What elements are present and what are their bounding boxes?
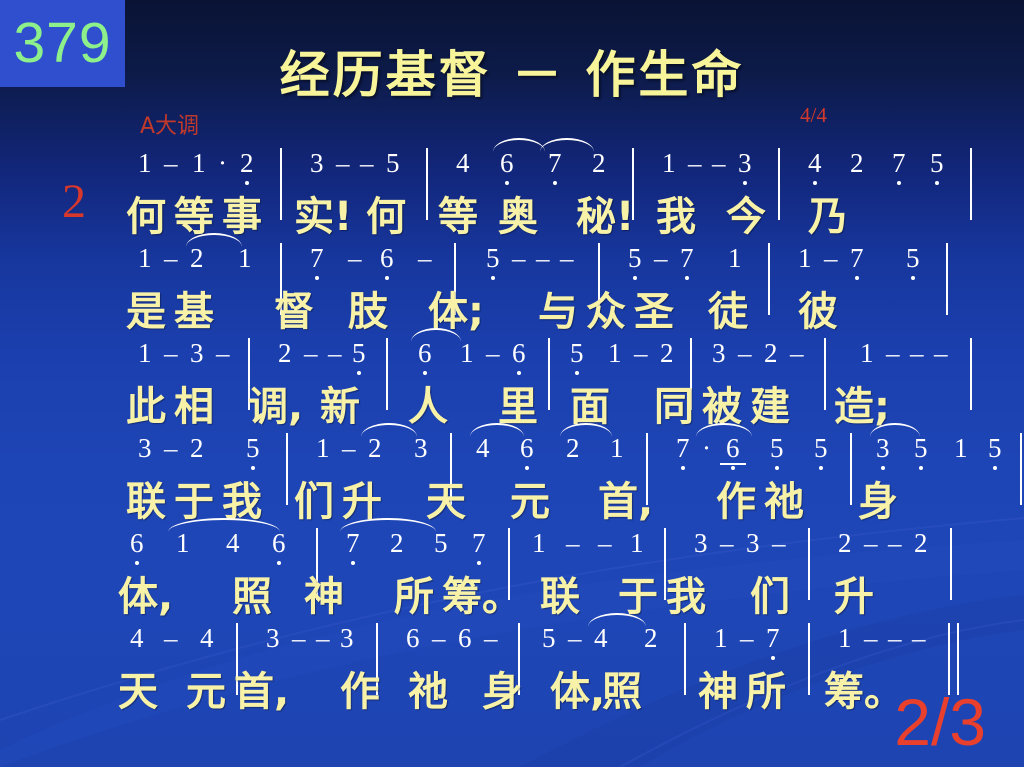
- lyric-row: 体,照神所筹。联于我们升: [108, 564, 908, 615]
- note: –: [164, 243, 178, 274]
- barline: [970, 148, 972, 220]
- lyric-syllable: 今: [726, 184, 766, 242]
- note: –: [864, 528, 878, 559]
- note: 7: [548, 148, 562, 179]
- barline: [950, 528, 952, 600]
- lyric-syllable: 与: [538, 279, 578, 337]
- note: 2: [764, 338, 778, 369]
- note: 7: [676, 433, 690, 464]
- note: –: [348, 243, 362, 274]
- lyric-syllable: 实!: [294, 184, 352, 242]
- note: 5: [246, 433, 260, 464]
- note: 4: [456, 148, 470, 179]
- note: –: [912, 623, 926, 654]
- note: –: [886, 338, 900, 369]
- barline: [970, 338, 972, 410]
- note: 5: [386, 148, 400, 179]
- note: 3: [190, 338, 204, 369]
- lyric-syllable: 联: [126, 469, 166, 527]
- staff-line: 614672571––13–3–2––2体,照神所筹。联于我们升: [108, 520, 908, 615]
- lyric-syllable: 督: [274, 279, 314, 337]
- note: 2: [914, 528, 928, 559]
- note: –: [304, 338, 318, 369]
- slur-arc: [560, 423, 612, 437]
- note: –: [910, 338, 924, 369]
- lyric-syllable: 筹。: [824, 659, 904, 717]
- note: 2: [838, 528, 852, 559]
- staff-line: 3–251–2346217·6553515联于我们升天元首,作祂身: [108, 425, 908, 520]
- note: –: [824, 243, 838, 274]
- note: –: [598, 528, 612, 559]
- note: 1: [176, 528, 190, 559]
- note: –: [164, 433, 178, 464]
- note: 5: [570, 338, 584, 369]
- note: –: [216, 338, 230, 369]
- lyric-syllable: 等: [438, 184, 478, 242]
- lyric-syllable: 元: [510, 469, 550, 527]
- lyric-row: 何等事实!何等奥秘!我今乃: [108, 184, 908, 235]
- note: 6: [380, 243, 394, 274]
- note: 7: [346, 528, 360, 559]
- note: 1: [610, 433, 624, 464]
- note-row: 1–217–6–5–––5–711–75: [108, 235, 908, 279]
- note: 5: [628, 243, 642, 274]
- note-row: 614672571––13–3–2––2: [108, 520, 908, 564]
- note: 3: [138, 433, 152, 464]
- lyric-syllable: 照: [232, 564, 272, 622]
- note: 5: [352, 338, 366, 369]
- note: 7: [850, 243, 864, 274]
- lyric-syllable: 所: [746, 659, 786, 717]
- note: 2: [368, 433, 382, 464]
- slur-arc: [186, 233, 242, 247]
- note: 1: [838, 623, 852, 654]
- lyric-syllable: 作: [340, 659, 380, 717]
- lyric-syllable: 首,: [598, 469, 653, 527]
- slur-arc: [870, 423, 920, 437]
- note: –: [560, 243, 574, 274]
- lyric-syllable: 此: [126, 374, 166, 432]
- music-staff: 1–1·23––546721––34275何等事实!何等奥秘!我今乃1–217–…: [108, 140, 908, 710]
- lyric-syllable: 建: [750, 374, 790, 432]
- note: 2: [190, 433, 204, 464]
- note: 5: [770, 433, 784, 464]
- slur-arc: [540, 138, 594, 152]
- slur-arc: [493, 138, 545, 152]
- slur-arc: [411, 328, 461, 342]
- note: –: [720, 528, 734, 559]
- note: 6: [512, 338, 526, 369]
- note: –: [432, 623, 446, 654]
- lyric-syllable: 祂: [408, 659, 448, 717]
- note: 2: [390, 528, 404, 559]
- lyric-syllable: 徒: [708, 279, 748, 337]
- lyric-syllable: 相: [174, 374, 214, 432]
- note: 1: [662, 148, 676, 179]
- note: 4: [476, 433, 490, 464]
- lyric-syllable: 乃: [808, 184, 848, 242]
- lyric-syllable: 升: [834, 564, 874, 622]
- lyric-syllable: 新: [320, 374, 360, 432]
- hymn-slide: 379 经历基督 － 作生命 A大调 4/4 2 1–1·23––546721–…: [0, 0, 1024, 767]
- note: 1: [728, 243, 742, 274]
- staff-line: 1–217–6–5–––5–711–75是基督肢体;与众圣徒彼: [108, 235, 908, 330]
- note: 6: [272, 528, 286, 559]
- note: –: [934, 338, 948, 369]
- note: –: [864, 623, 878, 654]
- note: 5: [906, 243, 920, 274]
- lyric-syllable: 体,: [550, 659, 605, 717]
- lyric-syllable: 造;: [834, 374, 890, 432]
- lyric-syllable: 我: [656, 184, 696, 242]
- note: 3: [746, 528, 760, 559]
- staff-line: 1–1·23––546721––34275何等事实!何等奥秘!我今乃: [108, 140, 908, 235]
- lyric-syllable: 们: [294, 469, 334, 527]
- lyric-syllable: 天: [118, 659, 158, 717]
- note: 1: [238, 243, 252, 274]
- note: –: [634, 338, 648, 369]
- note: –: [316, 623, 330, 654]
- lyric-row: 此相调,新人里面同被建造;: [108, 374, 908, 425]
- lyric-syllable: 筹。: [442, 564, 522, 622]
- lyric-row: 联于我们升天元首,作祂身: [108, 469, 908, 520]
- note-row: 1–1·23––546721––34275: [108, 140, 908, 184]
- lyric-syllable: 何: [126, 184, 166, 242]
- note: –: [292, 623, 306, 654]
- note: 2: [660, 338, 674, 369]
- note: –: [654, 243, 668, 274]
- lyric-syllable: 体,: [118, 564, 173, 622]
- note: 2: [644, 623, 658, 654]
- note: 7: [680, 243, 694, 274]
- note: –: [888, 623, 902, 654]
- note: 5: [914, 433, 928, 464]
- lyric-syllable: 何: [366, 184, 406, 242]
- lyric-syllable: 调,: [248, 374, 303, 432]
- note: 2: [566, 433, 580, 464]
- note: 1: [860, 338, 874, 369]
- note: 6: [418, 338, 432, 369]
- note: 5: [486, 243, 500, 274]
- page-title: 经历基督 － 作生命: [0, 35, 1024, 107]
- barline: [946, 243, 948, 315]
- note: 3: [266, 623, 280, 654]
- note: 7: [766, 623, 780, 654]
- note: 3: [694, 528, 708, 559]
- note: 5: [930, 148, 944, 179]
- lyric-syllable: 我: [666, 564, 706, 622]
- note: –: [360, 148, 374, 179]
- note: –: [484, 623, 498, 654]
- note: 2: [278, 338, 292, 369]
- note: 6: [520, 433, 534, 464]
- note: –: [486, 338, 500, 369]
- note: 1: [608, 338, 622, 369]
- note: –: [712, 148, 726, 179]
- note: 3: [414, 433, 428, 464]
- note-row: 1–3–2––561–651–23–2–1–––: [108, 330, 908, 374]
- slur-arc: [696, 423, 752, 437]
- barline: [1020, 433, 1022, 505]
- staff-line: 1–3–2––561–651–23–2–1–––此相调,新人里面同被建造;: [108, 330, 908, 425]
- note: 1: [714, 623, 728, 654]
- note: 7: [310, 243, 324, 274]
- lyric-syllable: 作: [716, 469, 756, 527]
- lyric-syllable: 照: [602, 659, 642, 717]
- note: 1: [630, 528, 644, 559]
- lyric-syllable: 身: [482, 659, 522, 717]
- note: –: [738, 338, 752, 369]
- note: 4: [226, 528, 240, 559]
- note: 6: [500, 148, 514, 179]
- note: 6: [458, 623, 472, 654]
- lyric-syllable: 天: [426, 469, 466, 527]
- note: –: [740, 623, 754, 654]
- note: 6: [130, 528, 144, 559]
- note: ·: [218, 148, 227, 179]
- lyric-syllable: 同: [654, 374, 694, 432]
- note: 4: [808, 148, 822, 179]
- note: –: [568, 623, 582, 654]
- note: –: [164, 338, 178, 369]
- note: 5: [988, 433, 1002, 464]
- note: –: [512, 243, 526, 274]
- staff-line: 4–43––36–6–5–421–71–––天元首,作祂身体,照神所筹。: [108, 615, 908, 710]
- note: 1: [954, 433, 968, 464]
- lyric-syllable: 圣: [634, 279, 674, 337]
- key-signature: A大调: [140, 108, 199, 140]
- note: 6: [726, 433, 740, 464]
- note-row: 3–251–2346217·6553515: [108, 425, 908, 469]
- note: 4: [130, 623, 144, 654]
- note: 1: [138, 148, 152, 179]
- note: –: [328, 338, 342, 369]
- slur-arc: [361, 423, 417, 437]
- lyric-syllable: 彼: [798, 279, 838, 337]
- lyric-syllable: 奥: [498, 184, 538, 242]
- note: 2: [240, 148, 254, 179]
- note: 1: [192, 148, 206, 179]
- lyric-syllable: 肢: [348, 279, 388, 337]
- lyric-syllable: 神: [698, 659, 738, 717]
- note: –: [536, 243, 550, 274]
- note: 3: [340, 623, 354, 654]
- note: 4: [594, 623, 608, 654]
- lyric-syllable: 所: [394, 564, 434, 622]
- lyric-syllable: 人: [408, 374, 448, 432]
- note: 1: [460, 338, 474, 369]
- lyric-syllable: 是: [126, 279, 166, 337]
- note: 3: [712, 338, 726, 369]
- note: 7: [892, 148, 906, 179]
- note-row: 4–43––36–6–5–421–71–––: [108, 615, 908, 659]
- note: 1: [138, 243, 152, 274]
- note: –: [164, 148, 178, 179]
- lyric-syllable: 祂: [764, 469, 804, 527]
- lyric-syllable: 首,: [234, 659, 289, 717]
- note: –: [342, 433, 356, 464]
- lyric-syllable: 事: [222, 184, 262, 242]
- lyric-syllable: 联: [540, 564, 580, 622]
- lyric-syllable: 们: [750, 564, 790, 622]
- slur-arc: [340, 518, 436, 532]
- note: –: [336, 148, 350, 179]
- note: –: [772, 528, 786, 559]
- note: –: [566, 528, 580, 559]
- note: –: [888, 528, 902, 559]
- lyric-row: 是基督肢体;与众圣徒彼: [108, 279, 908, 330]
- note: 3: [738, 148, 752, 179]
- note: 5: [542, 623, 556, 654]
- lyric-row: 天元首,作祂身体,照神所筹。: [108, 659, 908, 710]
- note: 6: [406, 623, 420, 654]
- lyric-syllable: 秘!: [576, 184, 634, 242]
- note: –: [688, 148, 702, 179]
- lyric-syllable: 元: [186, 659, 226, 717]
- note: 2: [850, 148, 864, 179]
- note: 7: [472, 528, 486, 559]
- note: 5: [814, 433, 828, 464]
- note: 2: [592, 148, 606, 179]
- slur-arc: [470, 423, 524, 437]
- lyric-syllable: 基: [174, 279, 214, 337]
- note: 1: [138, 338, 152, 369]
- verse-number: 2: [62, 178, 86, 226]
- note: ·: [702, 433, 711, 464]
- time-signature: 4/4: [800, 103, 827, 128]
- note: 1: [798, 243, 812, 274]
- note: 5: [434, 528, 448, 559]
- lyric-syllable: 神: [304, 564, 344, 622]
- note: 4: [200, 623, 214, 654]
- beam-underline: [720, 463, 746, 465]
- slur-arc: [588, 613, 646, 627]
- note: 1: [316, 433, 330, 464]
- note: –: [164, 623, 178, 654]
- note: –: [790, 338, 804, 369]
- page-indicator: 2/3: [894, 689, 986, 755]
- lyric-syllable: 身: [858, 469, 898, 527]
- lyric-syllable: 众: [586, 279, 626, 337]
- note: 1: [532, 528, 546, 559]
- note: 2: [190, 243, 204, 274]
- note: 3: [310, 148, 324, 179]
- note: –: [418, 243, 432, 274]
- note: 3: [876, 433, 890, 464]
- slur-arc: [168, 518, 280, 532]
